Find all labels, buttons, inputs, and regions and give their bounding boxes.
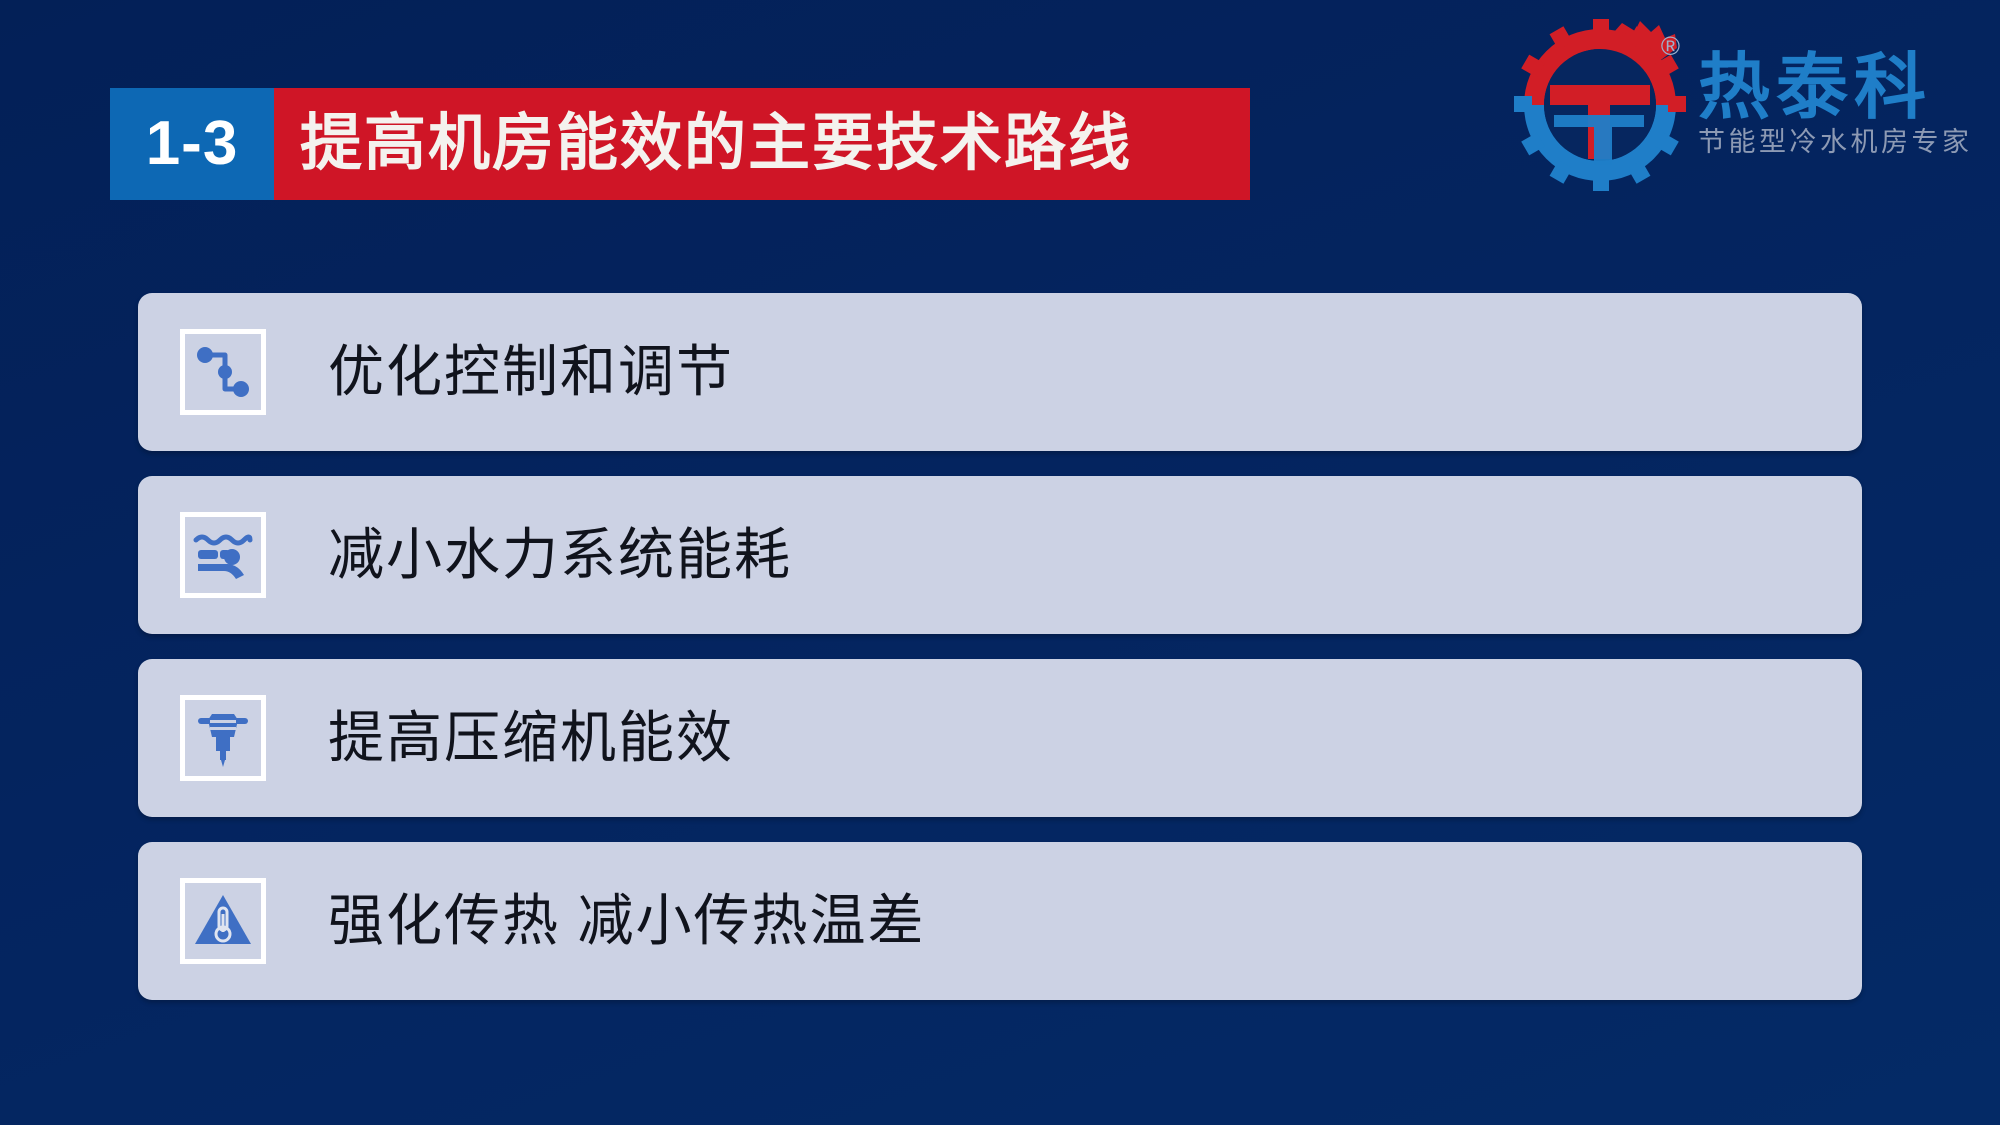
page-title: 提高机房能效的主要技术路线 [300, 113, 1132, 175]
list-item-label: 优化控制和调节 [328, 344, 734, 400]
logo-tagline: 节能型冷水机房专家 [1698, 128, 1973, 158]
list-item-label: 减小水力系统能耗 [328, 527, 792, 583]
logo-text-group: 热泰科 节能型冷水机房专家 [1698, 52, 1973, 157]
jackhammer-icon [192, 707, 254, 769]
list-item-label: 提高压缩机能效 [328, 710, 734, 766]
icon-frame [180, 329, 266, 415]
icon-frame [180, 878, 266, 964]
network-nodes-icon [192, 341, 254, 403]
logo-brand-name: 热泰科 [1698, 52, 1973, 125]
logo-gear-mark: ® [1514, 19, 1686, 191]
slide-canvas: 1-3 提高机房能效的主要技术路线 [0, 0, 2000, 1125]
technology-route-list: 优化控制和调节 减小水力系统能耗 [138, 293, 1862, 1000]
company-logo: ® 热泰科 节能型冷水机房专家 [1514, 14, 1974, 196]
registered-trademark-icon: ® [1661, 33, 1680, 59]
list-item-label: 强化传热 减小传热温差 [328, 893, 926, 949]
slide-title-bar: 1-3 提高机房能效的主要技术路线 [110, 88, 1250, 200]
list-item[interactable]: 强化传热 减小传热温差 [138, 842, 1862, 1000]
list-item[interactable]: 减小水力系统能耗 [138, 476, 1862, 634]
slide-title-banner: 提高机房能效的主要技术路线 [274, 88, 1250, 200]
icon-frame-row[interactable]: 提高压缩机能效 [138, 659, 1862, 817]
slide-number-badge: 1-3 [110, 88, 274, 200]
list-item[interactable]: 优化控制和调节 [138, 293, 1862, 451]
icon-frame [180, 695, 266, 781]
icon-frame [180, 512, 266, 598]
thermometer-triangle-icon [192, 890, 254, 952]
swimmer-water-icon [192, 524, 254, 586]
